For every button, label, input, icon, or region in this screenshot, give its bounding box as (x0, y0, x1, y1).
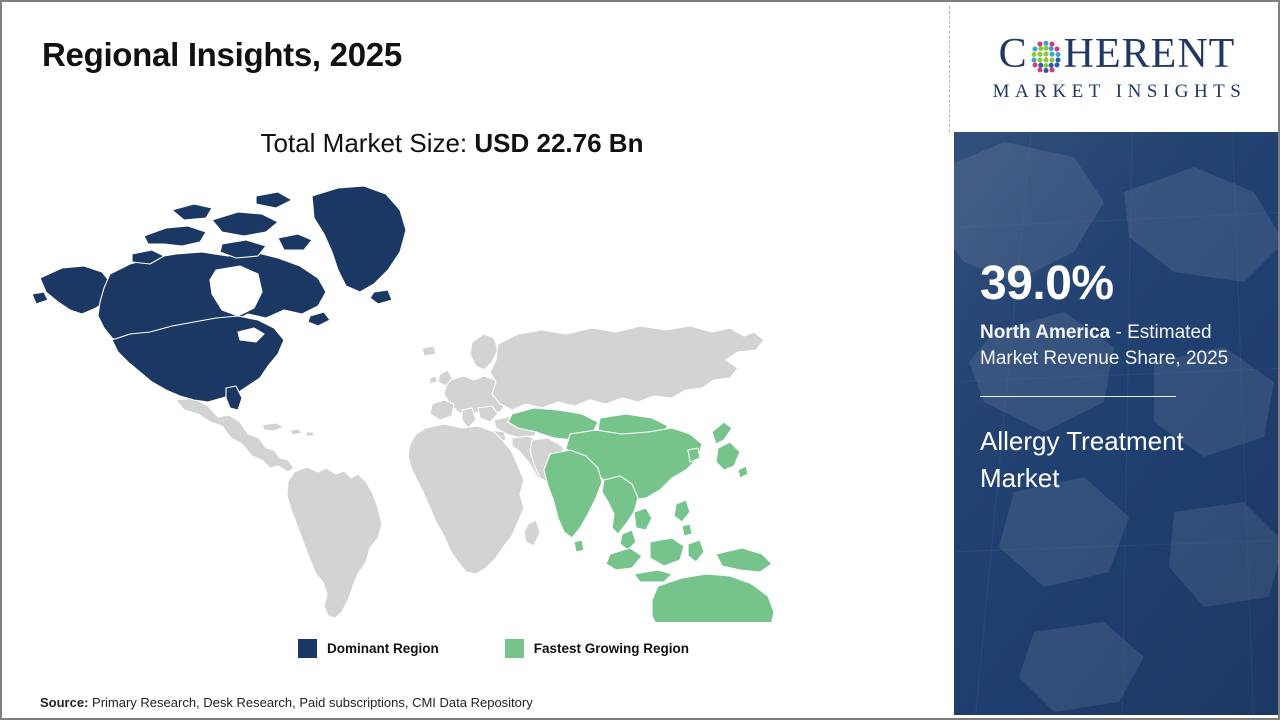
market-size-label: Total Market Size: (261, 128, 475, 158)
legend-label-dominant: Dominant Region (327, 641, 439, 656)
legend-item-fastest-growing: Fastest Growing Region (505, 639, 689, 658)
right-panel: 39.0% North America - Estimated Market R… (954, 132, 1280, 715)
slide-root: Regional Insights, 2025 Total Market Siz… (0, 0, 1280, 720)
left-panel: Regional Insights, 2025 Total Market Siz… (2, 2, 949, 718)
legend-item-dominant: Dominant Region (298, 639, 439, 658)
legend-label-fastest-growing: Fastest Growing Region (534, 641, 689, 656)
panel-divider (949, 6, 950, 132)
logo-tagline: MARKET INSIGHTS (988, 81, 1247, 103)
market-size-value: USD 22.76 Bn (474, 128, 643, 158)
world-map-svg (26, 182, 906, 622)
source-line: Source: Primary Research, Desk Research,… (40, 695, 533, 710)
logo-letters-herent: HERENT (1064, 33, 1236, 75)
market-name: Allergy Treatment Market (980, 423, 1230, 497)
panel-horizontal-rule (980, 396, 1176, 397)
share-caption: North America - Estimated Market Revenue… (980, 320, 1252, 372)
source-label: Source: (40, 695, 88, 710)
map-legend: Dominant Region Fastest Growing Region (298, 639, 689, 658)
world-map-chart (26, 182, 906, 622)
square-swatch-icon (505, 639, 524, 658)
share-region-name: North America (980, 322, 1110, 343)
source-text: Primary Research, Desk Research, Paid su… (88, 695, 532, 710)
right-panel-content: 39.0% North America - Estimated Market R… (954, 260, 1280, 497)
total-market-size: Total Market Size: USD 22.76 Bn (2, 128, 902, 159)
page-title: Regional Insights, 2025 (42, 36, 402, 74)
share-value: 39.0% (980, 260, 1254, 308)
map-region-fastest-growing (508, 408, 830, 622)
dotted-globe-icon (1029, 39, 1063, 73)
square-swatch-icon (298, 639, 317, 658)
brand-logo: C (954, 4, 1280, 132)
logo-letter-c: C (999, 33, 1028, 75)
logo-wordmark: C (999, 33, 1236, 75)
